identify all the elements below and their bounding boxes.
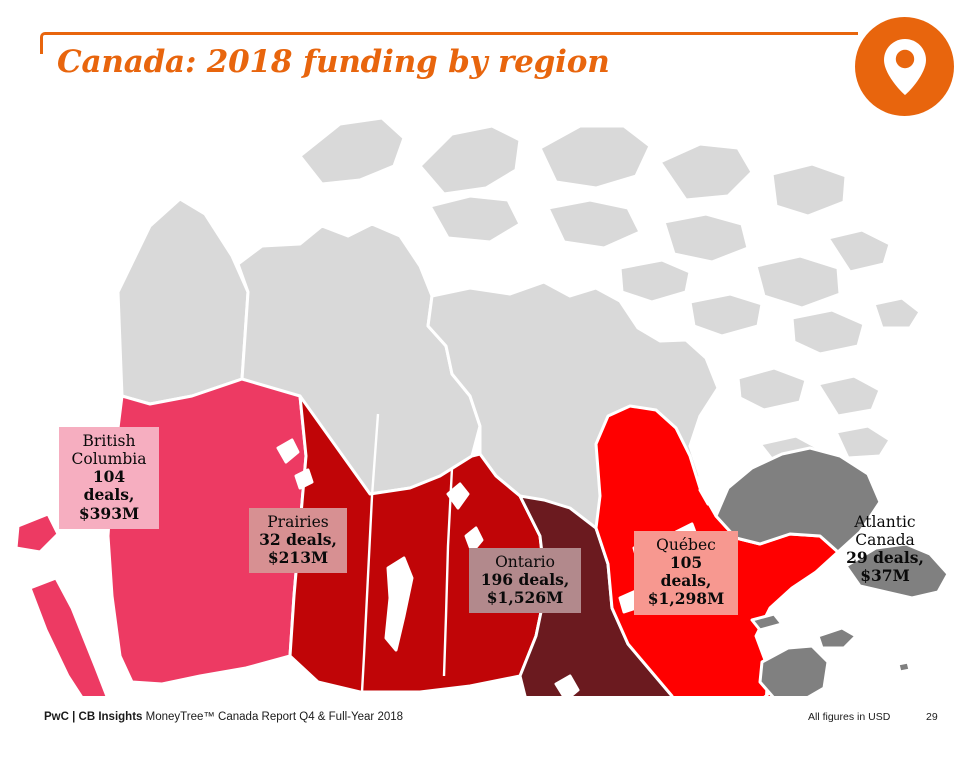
- region-deals-suffix: deals,: [641, 572, 731, 590]
- region-label-quebec[interactable]: Québec 105 deals, $1,298M: [634, 531, 738, 615]
- footer-source: PwC | CB Insights MoneyTree™ Canada Repo…: [44, 711, 403, 723]
- region-deals: 104: [66, 468, 152, 486]
- footer-brand: PwC | CB Insights: [44, 711, 142, 723]
- region-funding: $213M: [256, 549, 340, 567]
- location-pin-icon: [882, 37, 928, 97]
- region-deals: 196 deals,: [476, 571, 574, 589]
- page-title: Canada: 2018 funding by region: [57, 44, 610, 80]
- region-name-line2: Columbia: [66, 450, 152, 468]
- region-funding: $1,526M: [476, 589, 574, 607]
- map-bc-islands: [16, 514, 110, 696]
- region-funding: $393M: [66, 505, 152, 523]
- map-region-yukon: [118, 199, 248, 404]
- region-name: Québec: [641, 536, 731, 554]
- region-label-prairies[interactable]: Prairies 32 deals, $213M: [249, 508, 347, 573]
- region-name-line2: Canada: [841, 531, 929, 549]
- region-deals: 105: [641, 554, 731, 572]
- page-number: 29: [926, 711, 938, 723]
- region-funding: $1,298M: [641, 590, 731, 608]
- footer-report: MoneyTree™ Canada Report Q4 & Full-Year …: [146, 711, 403, 723]
- region-deals: 32 deals,: [256, 531, 340, 549]
- region-label-atlantic-canada[interactable]: Atlantic Canada 29 deals, $37M: [834, 508, 936, 592]
- map-region-new-brunswick: [760, 646, 828, 696]
- region-funding: $37M: [841, 567, 929, 585]
- region-label-british-columbia[interactable]: British Columbia 104 deals, $393M: [59, 427, 159, 529]
- region-name: British: [66, 432, 152, 450]
- region-deals-suffix: deals,: [66, 486, 152, 504]
- map-region-pei: [818, 628, 856, 648]
- region-deals: 29 deals,: [841, 549, 929, 567]
- region-name: Atlantic: [841, 513, 929, 531]
- region-name: Ontario: [476, 553, 574, 571]
- region-label-ontario[interactable]: Ontario 196 deals, $1,526M: [469, 548, 581, 613]
- footer-currency-note: All figures in USD: [808, 711, 890, 723]
- region-name: Prairies: [256, 513, 340, 531]
